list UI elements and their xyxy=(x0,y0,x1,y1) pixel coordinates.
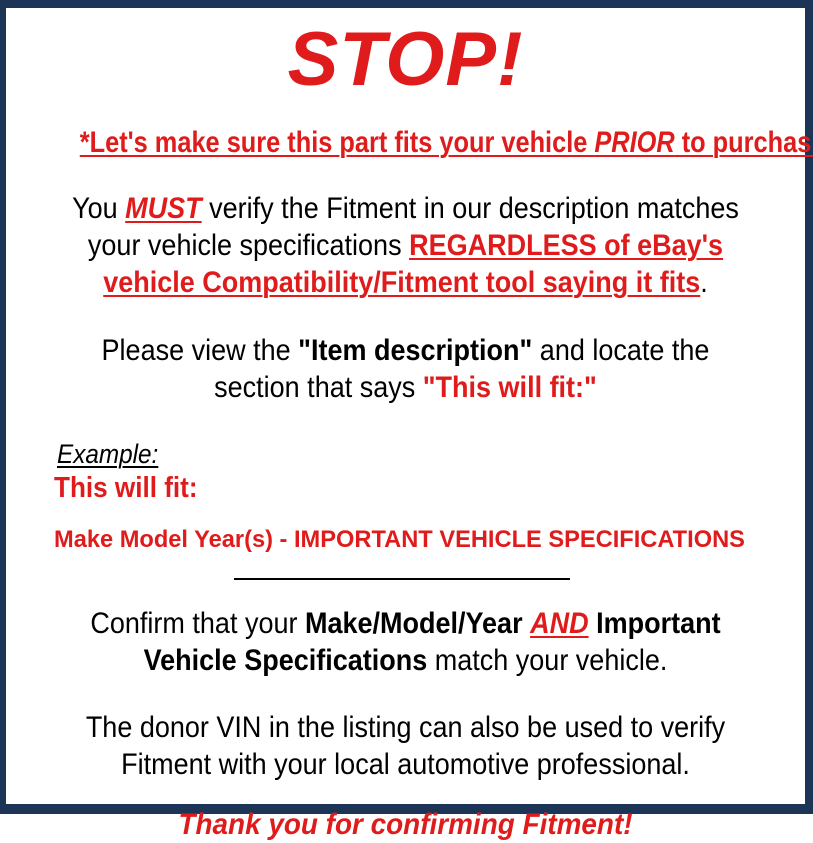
paragraph-3-emphasis-make-model-year: Make/Model/Year xyxy=(305,607,523,640)
notice-inner: STOP! *Let's make sure this part fits yo… xyxy=(6,22,805,818)
paragraph-item-description: Please view the "Item description" and l… xyxy=(59,333,753,407)
paragraph-3-segment-1: Confirm that your xyxy=(90,607,305,640)
paragraph-2-segment-1: Please view the xyxy=(102,334,299,367)
paragraph-donor-vin: The donor VIN in the listing can also be… xyxy=(59,710,753,784)
page-title: STOP! xyxy=(20,22,791,98)
subtitle-banner: *Let's make sure this part fits your veh… xyxy=(80,126,731,159)
example-fit-heading: This will fit: xyxy=(54,472,717,505)
paragraph-3-emphasis-and: AND xyxy=(530,607,589,640)
fitment-notice-card: STOP! *Let's make sure this part fits yo… xyxy=(0,0,813,814)
example-block: Example: This will fit: Make Model Year(… xyxy=(20,440,791,553)
paragraph-3-segment-2 xyxy=(523,607,531,640)
paragraph-2-emphasis-this-will-fit: "This will fit:" xyxy=(423,371,597,404)
section-divider xyxy=(234,578,570,580)
example-spec-line: Make Model Year(s) - IMPORTANT VEHICLE S… xyxy=(54,527,780,553)
paragraph-verify-fitment: You MUST verify the Fitment in our descr… xyxy=(59,191,753,302)
paragraph-2-emphasis-item-description: "Item description" xyxy=(298,334,532,367)
paragraph-confirm-match: Confirm that your Make/Model/Year AND Im… xyxy=(59,606,753,680)
paragraph-3-segment-4: match your vehicle. xyxy=(427,644,667,677)
divider-wrap xyxy=(20,576,791,580)
paragraph-1-emphasis-must: MUST xyxy=(125,192,202,225)
example-label: Example: xyxy=(57,440,158,470)
subtitle-prefix: *Let's make sure this part fits your veh… xyxy=(80,126,595,159)
subtitle-suffix: to purchasing* xyxy=(675,126,813,159)
subtitle-emphasis-prior: PRIOR xyxy=(594,126,674,159)
closing-thank-you: Thank you for confirming Fitment! xyxy=(47,807,764,843)
paragraph-1-segment-1: You xyxy=(72,192,125,225)
paragraph-1-segment-3: . xyxy=(700,266,708,299)
